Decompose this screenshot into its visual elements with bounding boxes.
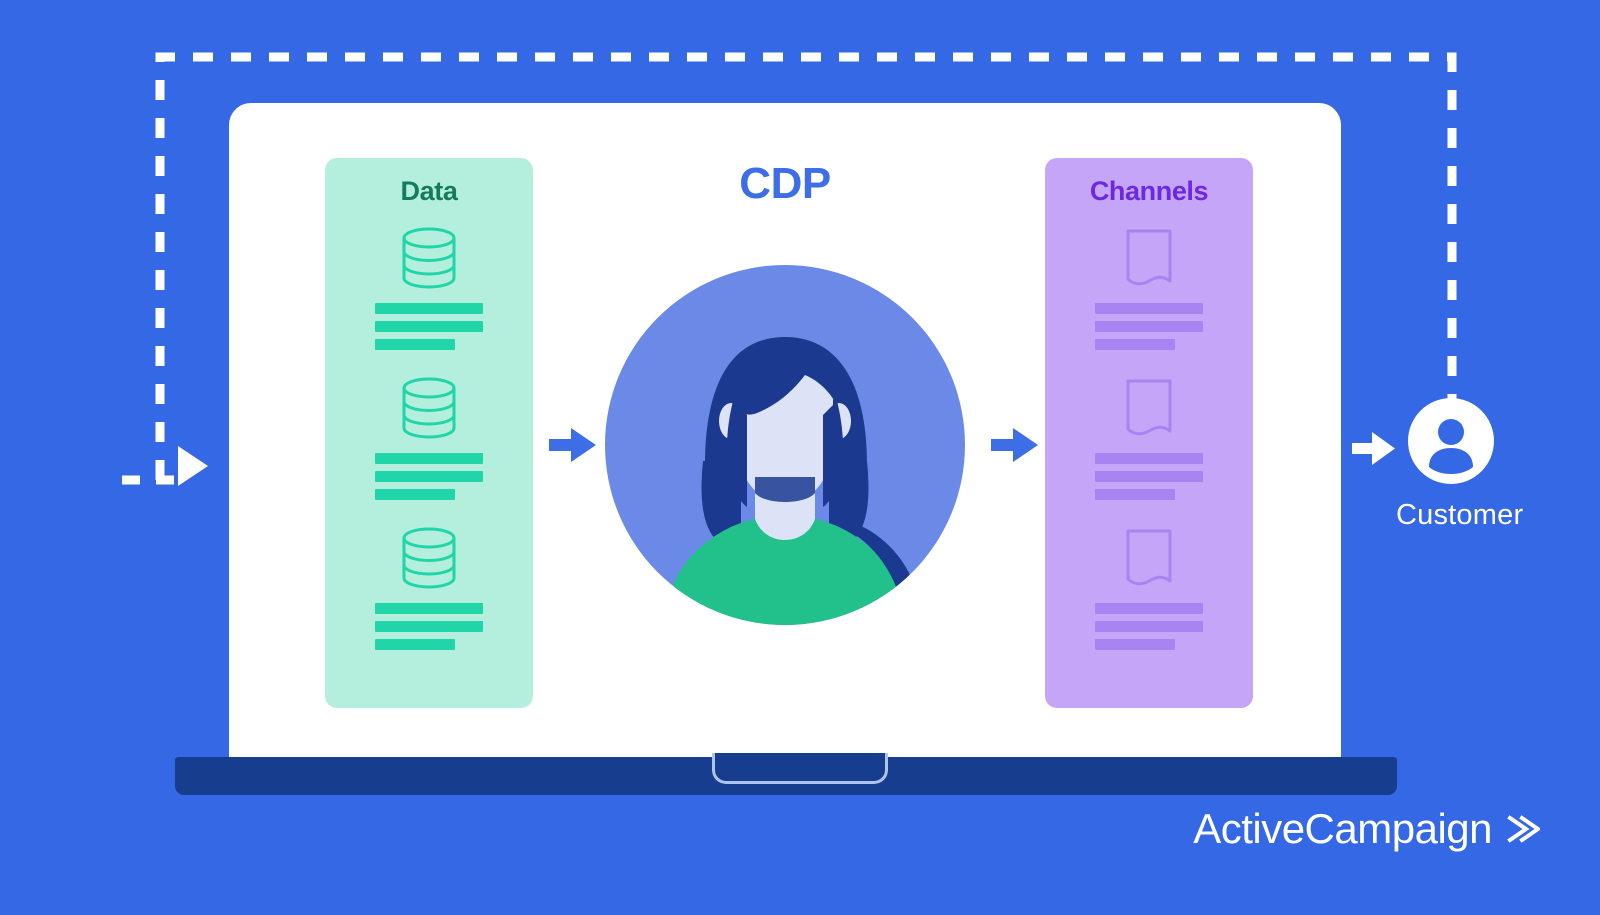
diagram-stage: Data	[229, 103, 1341, 758]
data-group	[325, 225, 533, 357]
arrow-channels-to-customer	[1352, 430, 1396, 473]
channel-bars	[1095, 453, 1203, 507]
customer-label: Customer	[1396, 499, 1506, 532]
bookmark-icon	[1124, 525, 1174, 591]
bar	[1095, 321, 1203, 332]
database-icon	[401, 525, 457, 591]
bar	[1095, 639, 1175, 650]
bar	[1095, 621, 1203, 632]
woman-avatar-illustration	[605, 265, 965, 625]
channel-group	[1045, 525, 1253, 657]
bar	[375, 321, 483, 332]
bar	[1095, 339, 1175, 350]
bar	[375, 339, 455, 350]
channel-group	[1045, 375, 1253, 507]
bar	[375, 453, 483, 464]
chevron-double-right-icon	[1506, 810, 1540, 848]
bar	[375, 639, 455, 650]
panel-channels: Channels	[1045, 158, 1253, 708]
bookmark-icon	[1124, 225, 1174, 291]
data-bars	[375, 603, 483, 657]
bar	[375, 621, 483, 632]
arrow-data-to-cdp	[549, 425, 597, 470]
bookmark-icon	[1124, 375, 1174, 441]
brand-name: ActiveCampaign	[1193, 805, 1492, 853]
bar	[375, 489, 455, 500]
bar	[1095, 489, 1175, 500]
brand-logo: ActiveCampaign	[1193, 805, 1540, 853]
data-bars	[375, 303, 483, 357]
database-icon	[401, 225, 457, 291]
data-group	[325, 375, 533, 507]
bar	[1095, 453, 1203, 464]
bar	[375, 603, 483, 614]
panel-data: Data	[325, 158, 533, 708]
customer-node: Customer	[1396, 398, 1506, 532]
database-icon	[401, 375, 457, 441]
channel-bars	[1095, 303, 1203, 357]
data-bars	[375, 453, 483, 507]
channel-group	[1045, 225, 1253, 357]
arrow-cdp-to-channels	[991, 425, 1039, 470]
bar	[1095, 303, 1203, 314]
bar	[1095, 603, 1203, 614]
bar	[1095, 471, 1203, 482]
user-circle-icon	[1408, 398, 1494, 484]
data-group	[325, 525, 533, 657]
bar	[375, 303, 483, 314]
channel-bars	[1095, 603, 1203, 657]
panel-channels-title: Channels	[1045, 176, 1253, 207]
bar	[375, 471, 483, 482]
